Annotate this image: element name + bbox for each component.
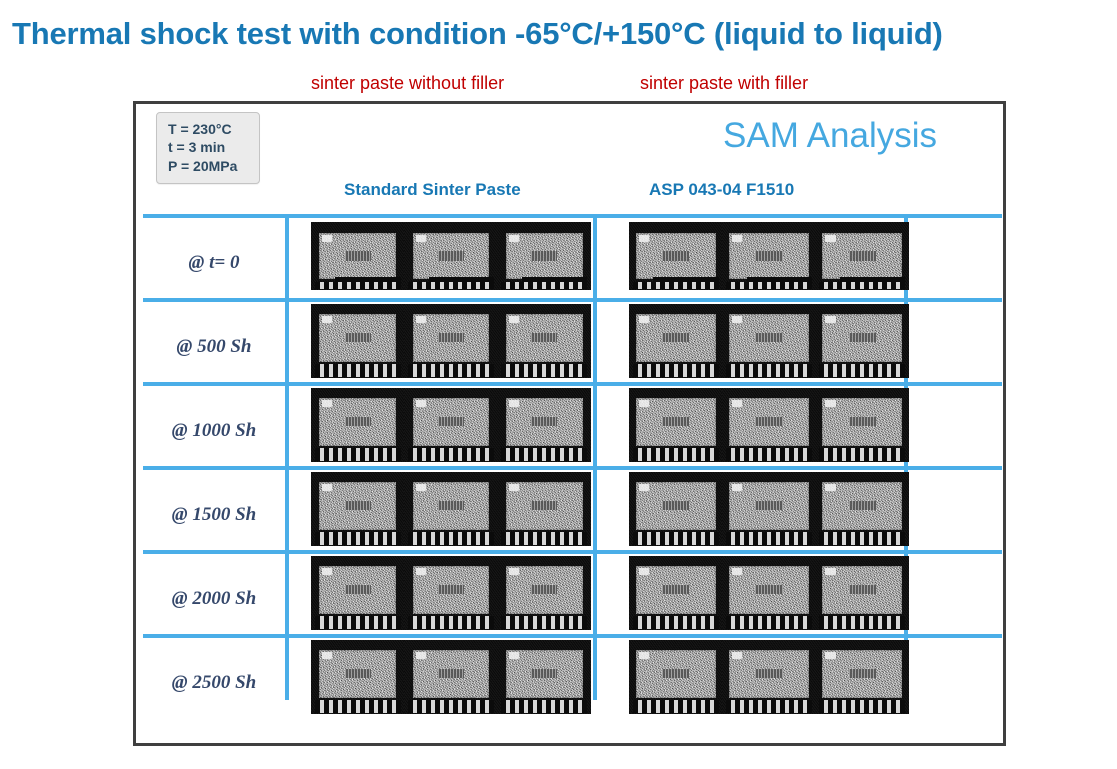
sam-leads bbox=[819, 532, 905, 545]
sam-corner-marker bbox=[416, 484, 426, 491]
sam-die-area bbox=[319, 314, 396, 362]
sam-die-label bbox=[438, 669, 464, 679]
sam-sample-image bbox=[404, 556, 497, 630]
column-header-asp-043-04-f1510: ASP 043-04 F1510 bbox=[649, 180, 794, 200]
sam-sample-image bbox=[816, 388, 909, 462]
sam-corner-marker bbox=[825, 400, 835, 407]
sam-corner-marker bbox=[509, 400, 519, 407]
sam-die-area bbox=[822, 398, 902, 446]
sam-die-label bbox=[755, 501, 782, 511]
sam-die-area bbox=[506, 233, 583, 279]
sam-sample-image bbox=[404, 304, 497, 378]
sam-die-area bbox=[822, 233, 902, 279]
sam-die-area bbox=[413, 314, 490, 362]
row-label-500sh: @ 500 Sh bbox=[143, 336, 285, 358]
sam-leads bbox=[819, 448, 905, 461]
sam-die-label bbox=[438, 333, 464, 343]
sam-leads bbox=[726, 282, 812, 289]
sam-die-label bbox=[662, 251, 689, 260]
sam-die-area bbox=[822, 314, 902, 362]
sam-die-area bbox=[729, 314, 809, 362]
sam-die-area bbox=[413, 233, 490, 279]
grid-hline-1 bbox=[143, 298, 1002, 302]
sam-corner-marker bbox=[732, 484, 742, 491]
sam-sample-image bbox=[404, 472, 497, 546]
sam-corner-marker bbox=[732, 652, 742, 659]
sam-corner-marker bbox=[825, 484, 835, 491]
page-title: Thermal shock test with condition -65°C/… bbox=[12, 16, 1112, 52]
sam-leads bbox=[315, 448, 401, 461]
sam-leads bbox=[501, 282, 587, 289]
sam-leads bbox=[633, 532, 719, 545]
sam-corner-marker bbox=[825, 316, 835, 323]
sam-die-label bbox=[531, 417, 557, 427]
sam-sample-image bbox=[722, 222, 815, 290]
grid-hline-3 bbox=[143, 466, 1002, 470]
sam-sample-image bbox=[498, 640, 591, 714]
caption-sinter-paste-without-filler: sinter paste without filler bbox=[311, 73, 504, 94]
sam-corner-marker bbox=[416, 235, 426, 242]
sam-die-label bbox=[345, 333, 371, 343]
sam-leads bbox=[501, 700, 587, 713]
sam-corner-marker bbox=[639, 484, 649, 491]
sam-die-label bbox=[755, 251, 782, 260]
grid-vline-middle bbox=[593, 214, 597, 700]
sam-image-cell bbox=[629, 388, 909, 462]
sam-leads bbox=[726, 448, 812, 461]
sam-die-area bbox=[319, 398, 396, 446]
sam-corner-marker bbox=[416, 652, 426, 659]
sam-analysis-panel: T = 230°C t = 3 min P = 20MPa SAM Analys… bbox=[133, 101, 1006, 746]
sam-die-area bbox=[729, 398, 809, 446]
sam-image-cell bbox=[311, 640, 591, 714]
sam-leads bbox=[726, 532, 812, 545]
sam-sample-image bbox=[311, 472, 404, 546]
sam-die-label bbox=[345, 417, 371, 427]
sam-leads bbox=[408, 364, 494, 377]
sam-sample-image bbox=[629, 472, 722, 546]
sam-sample-image bbox=[629, 388, 722, 462]
sam-die-area bbox=[822, 650, 902, 698]
sam-corner-marker bbox=[416, 568, 426, 575]
sam-leads bbox=[726, 364, 812, 377]
sam-corner-marker bbox=[732, 235, 742, 242]
sam-leads bbox=[819, 282, 905, 289]
sam-leads bbox=[315, 616, 401, 629]
sam-sample-image bbox=[629, 222, 722, 290]
sam-die-label bbox=[662, 333, 689, 343]
sam-die-area bbox=[319, 233, 396, 279]
sam-image-cell bbox=[629, 304, 909, 378]
sam-die-area bbox=[729, 233, 809, 279]
column-header-standard-sinter-paste: Standard Sinter Paste bbox=[344, 180, 521, 200]
sam-die-area bbox=[506, 398, 583, 446]
sam-die-label bbox=[849, 585, 876, 595]
grid-hline-5 bbox=[143, 634, 1002, 638]
sam-sample-image bbox=[498, 304, 591, 378]
parameter-temperature: T = 230°C bbox=[168, 120, 250, 138]
sam-die-label bbox=[531, 333, 557, 343]
sam-leads bbox=[726, 700, 812, 713]
sam-corner-marker bbox=[509, 568, 519, 575]
sam-die-label bbox=[345, 669, 371, 679]
sam-corner-marker bbox=[509, 484, 519, 491]
sam-leads bbox=[408, 282, 494, 289]
sam-die-label bbox=[662, 585, 689, 595]
sam-sample-image bbox=[404, 222, 497, 290]
sam-sample-image bbox=[498, 388, 591, 462]
sam-die-area bbox=[636, 566, 716, 614]
sam-die-area bbox=[636, 482, 716, 530]
sam-leads bbox=[408, 448, 494, 461]
sam-die-label bbox=[345, 251, 371, 260]
sam-image-cell bbox=[311, 304, 591, 378]
sam-corner-marker bbox=[825, 235, 835, 242]
sam-sample-image bbox=[722, 472, 815, 546]
sam-sample-image bbox=[404, 640, 497, 714]
sam-leads bbox=[819, 700, 905, 713]
sam-leads bbox=[633, 364, 719, 377]
grid-vline-left bbox=[285, 214, 289, 700]
sam-image-cell bbox=[311, 388, 591, 462]
sam-die-label bbox=[755, 669, 782, 679]
sam-die-area bbox=[319, 566, 396, 614]
sam-leads bbox=[819, 616, 905, 629]
sam-die-area bbox=[636, 314, 716, 362]
sam-sample-image bbox=[816, 304, 909, 378]
sam-leads bbox=[408, 700, 494, 713]
sam-image-cell bbox=[629, 222, 909, 290]
sam-die-area bbox=[319, 482, 396, 530]
sam-leads bbox=[501, 448, 587, 461]
sam-die-area bbox=[506, 482, 583, 530]
sam-leads bbox=[408, 616, 494, 629]
sam-corner-marker bbox=[322, 652, 332, 659]
sam-die-label bbox=[438, 585, 464, 595]
sam-die-area bbox=[319, 650, 396, 698]
sam-corner-marker bbox=[639, 652, 649, 659]
sam-corner-marker bbox=[322, 235, 332, 242]
sam-corner-marker bbox=[322, 568, 332, 575]
row-label-t0: @ t= 0 bbox=[143, 252, 285, 274]
sam-die-label bbox=[531, 585, 557, 595]
sam-die-label bbox=[849, 669, 876, 679]
sam-corner-marker bbox=[639, 316, 649, 323]
sam-corner-marker bbox=[509, 235, 519, 242]
parameter-pressure: P = 20MPa bbox=[168, 157, 250, 175]
sam-corner-marker bbox=[639, 400, 649, 407]
sam-image-cell bbox=[629, 556, 909, 630]
sam-die-area bbox=[413, 398, 490, 446]
sam-die-area bbox=[413, 650, 490, 698]
row-label-1500sh: @ 1500 Sh bbox=[143, 504, 285, 526]
sam-sample-image bbox=[311, 222, 404, 290]
parameter-time: t = 3 min bbox=[168, 138, 250, 156]
sam-die-area bbox=[506, 566, 583, 614]
sam-leads bbox=[633, 616, 719, 629]
grid-hline-0 bbox=[143, 214, 1002, 218]
sam-leads bbox=[633, 282, 719, 289]
sam-die-label bbox=[438, 251, 464, 260]
sam-die-area bbox=[729, 566, 809, 614]
sam-die-label bbox=[849, 251, 876, 260]
sam-die-area bbox=[636, 650, 716, 698]
sam-corner-marker bbox=[416, 400, 426, 407]
grid-hline-4 bbox=[143, 550, 1002, 554]
row-label-1000sh: @ 1000 Sh bbox=[143, 420, 285, 442]
sam-die-area bbox=[822, 566, 902, 614]
sam-sample-image bbox=[498, 472, 591, 546]
sam-leads bbox=[315, 700, 401, 713]
row-label-2500sh: @ 2500 Sh bbox=[143, 672, 285, 694]
sam-leads bbox=[315, 364, 401, 377]
sam-sample-image bbox=[311, 388, 404, 462]
sam-die-area bbox=[636, 233, 716, 279]
sam-analysis-heading: SAM Analysis bbox=[723, 116, 937, 156]
sam-corner-marker bbox=[509, 316, 519, 323]
sam-die-label bbox=[438, 501, 464, 511]
sam-leads bbox=[315, 282, 401, 289]
sam-leads bbox=[726, 616, 812, 629]
sam-corner-marker bbox=[732, 316, 742, 323]
grid-hline-2 bbox=[143, 382, 1002, 386]
sam-image-cell bbox=[629, 472, 909, 546]
sam-die-label bbox=[345, 585, 371, 595]
sam-die-label bbox=[755, 417, 782, 427]
sam-image-cell bbox=[311, 556, 591, 630]
sam-corner-marker bbox=[509, 652, 519, 659]
sam-leads bbox=[633, 448, 719, 461]
sam-die-label bbox=[662, 501, 689, 511]
sam-sample-image bbox=[629, 640, 722, 714]
sam-sample-image bbox=[722, 304, 815, 378]
sam-corner-marker bbox=[639, 235, 649, 242]
sam-die-label bbox=[849, 333, 876, 343]
sam-leads bbox=[501, 364, 587, 377]
sam-die-area bbox=[506, 314, 583, 362]
sam-die-area bbox=[822, 482, 902, 530]
sam-corner-marker bbox=[732, 568, 742, 575]
sam-sample-image bbox=[816, 222, 909, 290]
sam-die-label bbox=[531, 251, 557, 260]
sam-sample-image bbox=[816, 472, 909, 546]
sam-sample-image bbox=[816, 556, 909, 630]
sam-sample-image bbox=[311, 556, 404, 630]
sam-image-cell bbox=[311, 472, 591, 546]
sam-die-label bbox=[755, 585, 782, 595]
row-label-2000sh: @ 2000 Sh bbox=[143, 588, 285, 610]
sam-die-label bbox=[345, 501, 371, 511]
sam-die-label bbox=[662, 417, 689, 427]
sam-leads bbox=[819, 364, 905, 377]
sam-sample-image bbox=[311, 304, 404, 378]
sam-image-cell bbox=[311, 222, 591, 290]
sam-sample-image bbox=[629, 556, 722, 630]
sam-die-area bbox=[636, 398, 716, 446]
sam-corner-marker bbox=[732, 400, 742, 407]
sam-die-label bbox=[438, 417, 464, 427]
sam-die-area bbox=[729, 650, 809, 698]
sam-leads bbox=[501, 532, 587, 545]
sam-die-label bbox=[849, 501, 876, 511]
sam-sample-image bbox=[722, 640, 815, 714]
sam-sample-image bbox=[498, 556, 591, 630]
sam-die-area bbox=[413, 566, 490, 614]
sam-leads bbox=[408, 532, 494, 545]
sam-die-area bbox=[413, 482, 490, 530]
sam-sample-image bbox=[722, 388, 815, 462]
sam-image-cell bbox=[629, 640, 909, 714]
sam-corner-marker bbox=[322, 484, 332, 491]
sam-corner-marker bbox=[322, 316, 332, 323]
sam-die-label bbox=[531, 669, 557, 679]
process-parameters-box: T = 230°C t = 3 min P = 20MPa bbox=[156, 112, 260, 184]
sam-sample-image bbox=[404, 388, 497, 462]
caption-sinter-paste-with-filler: sinter paste with filler bbox=[640, 73, 808, 94]
sam-corner-marker bbox=[639, 568, 649, 575]
sam-die-label bbox=[662, 669, 689, 679]
sam-corner-marker bbox=[322, 400, 332, 407]
sam-sample-image bbox=[629, 304, 722, 378]
sam-leads bbox=[501, 616, 587, 629]
sam-sample-image bbox=[722, 556, 815, 630]
sam-sample-image bbox=[498, 222, 591, 290]
sam-leads bbox=[633, 700, 719, 713]
sam-die-label bbox=[849, 417, 876, 427]
sam-sample-image bbox=[816, 640, 909, 714]
sam-die-area bbox=[506, 650, 583, 698]
sam-die-label bbox=[531, 501, 557, 511]
sam-corner-marker bbox=[825, 652, 835, 659]
sam-corner-marker bbox=[416, 316, 426, 323]
sam-corner-marker bbox=[825, 568, 835, 575]
sam-die-area bbox=[729, 482, 809, 530]
sam-leads bbox=[315, 532, 401, 545]
sam-die-label bbox=[755, 333, 782, 343]
sam-sample-image bbox=[311, 640, 404, 714]
